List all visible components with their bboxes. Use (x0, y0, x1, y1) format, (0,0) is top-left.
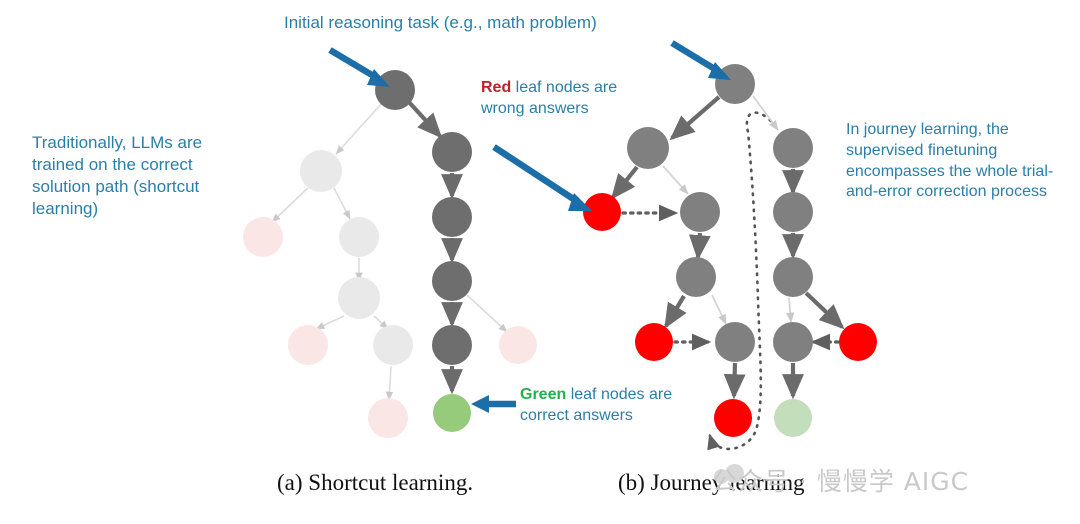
node-corrected (680, 192, 720, 232)
caption-shortcut-learning: (a) Shortcut learning. (277, 470, 473, 496)
node-explore (773, 128, 813, 168)
annotation-green-legend: Green leaf nodes are correct answers (520, 385, 720, 427)
green-keyword: Green (520, 386, 566, 403)
arrow-to-journey-root (672, 43, 731, 80)
node-discarded-wrong (499, 326, 537, 364)
annotation-journey-description: In journey learning, the supervised fine… (846, 120, 1071, 203)
node-correct-leaf (433, 394, 471, 432)
node-explore (773, 257, 813, 297)
node-discarded (300, 150, 342, 192)
annotation-initial-task: Initial reasoning task (e.g., math probl… (284, 12, 597, 34)
node-discarded (339, 217, 379, 257)
node-correct-path (432, 325, 472, 365)
node-wrong-leaf (839, 323, 877, 361)
arrow-to-shortcut-root (330, 50, 390, 87)
node-correct-path (432, 261, 472, 301)
figure-canvas: Initial reasoning task (e.g., math probl… (0, 0, 1080, 524)
node-correct-path (432, 132, 472, 172)
node-corrected (773, 322, 813, 362)
node-discarded-wrong (288, 325, 328, 365)
node-corrected (715, 322, 755, 362)
arrow-to-green-node (471, 395, 516, 413)
node-correct-path (432, 197, 472, 237)
arrow-to-red-node (494, 147, 592, 211)
node-wrong-leaf (583, 193, 621, 231)
red-keyword: Red (481, 79, 511, 96)
node-explore (627, 127, 669, 169)
annotation-shortcut-description: Traditionally, LLMs are trained on the c… (32, 132, 247, 220)
node-wrong-leaf (635, 323, 673, 361)
node-discarded (338, 277, 380, 319)
node-discarded (373, 325, 413, 365)
journey-nodes (583, 64, 877, 437)
node-discarded-wrong (368, 398, 408, 438)
watermark-text: 公众号 · 慢慢学 AIGC (712, 462, 969, 498)
node-explore (773, 192, 813, 232)
node-discarded-wrong (243, 217, 283, 257)
node-explore (676, 257, 716, 297)
node-root (375, 70, 415, 110)
annotation-red-legend: Red leaf nodes are wrong answers (481, 78, 661, 120)
node-correct-leaf (774, 399, 812, 437)
